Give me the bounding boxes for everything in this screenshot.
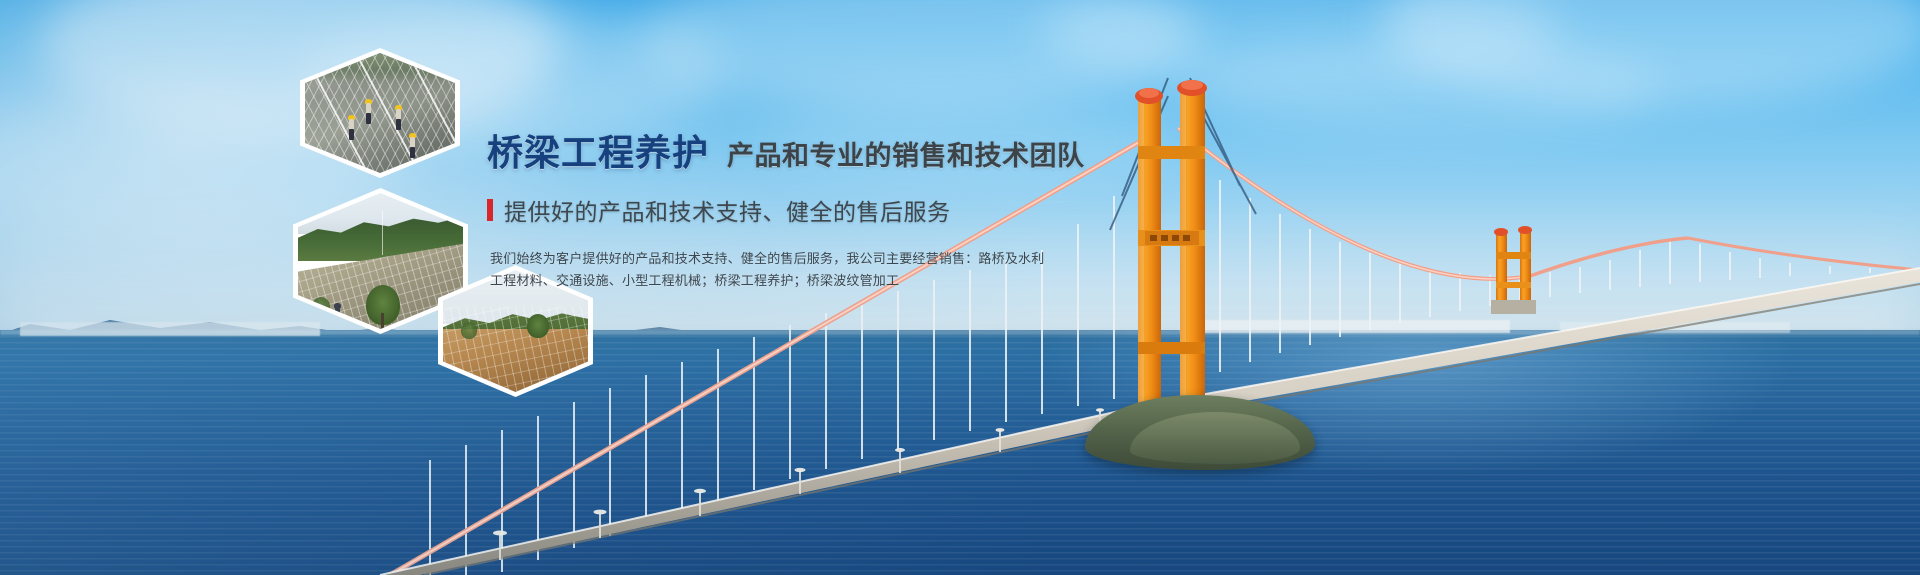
tree (527, 314, 549, 338)
mesh-anchor-cables (305, 53, 455, 173)
hero-banner: 桥梁工程养护 产品和专业的销售和技术团队 提供好的产品和技术支持、健全的售后服务… (0, 0, 1920, 575)
banner-copy: 桥梁工程养护 产品和专业的销售和技术团队 提供好的产品和技术支持、健全的售后服务… (487, 124, 1047, 292)
description-paragraph: 我们始终为客户提供好的产品和技术支持、健全的售后服务，我公司主要经营销售：路桥及… (490, 248, 1047, 292)
hex-photo-inner (305, 53, 455, 173)
tree-trunk (381, 313, 384, 329)
rock-face-photo (305, 53, 455, 173)
description-line-2: 工程材料、交通设施、小型工程机械；桥梁工程养护；桥梁波纹管加工 (490, 270, 1047, 292)
red-accent-bar (487, 199, 493, 221)
headline-main: 桥梁工程养护 (487, 124, 709, 176)
subheadline-text: 提供好的产品和技术支持、健全的售后服务 (504, 193, 951, 227)
description-line-1: 我们始终为客户提供好的产品和技术支持、健全的售后服务，我公司主要经营销售：路桥及… (490, 248, 1047, 270)
tree (461, 322, 477, 339)
headline-row: 桥梁工程养护 产品和专业的销售和技术团队 (487, 124, 1047, 176)
headline-sub: 产品和专业的销售和技术团队 (727, 134, 1085, 173)
subheadline-row: 提供好的产品和技术支持、健全的售后服务 (487, 193, 1047, 227)
utility-pole (382, 211, 383, 255)
